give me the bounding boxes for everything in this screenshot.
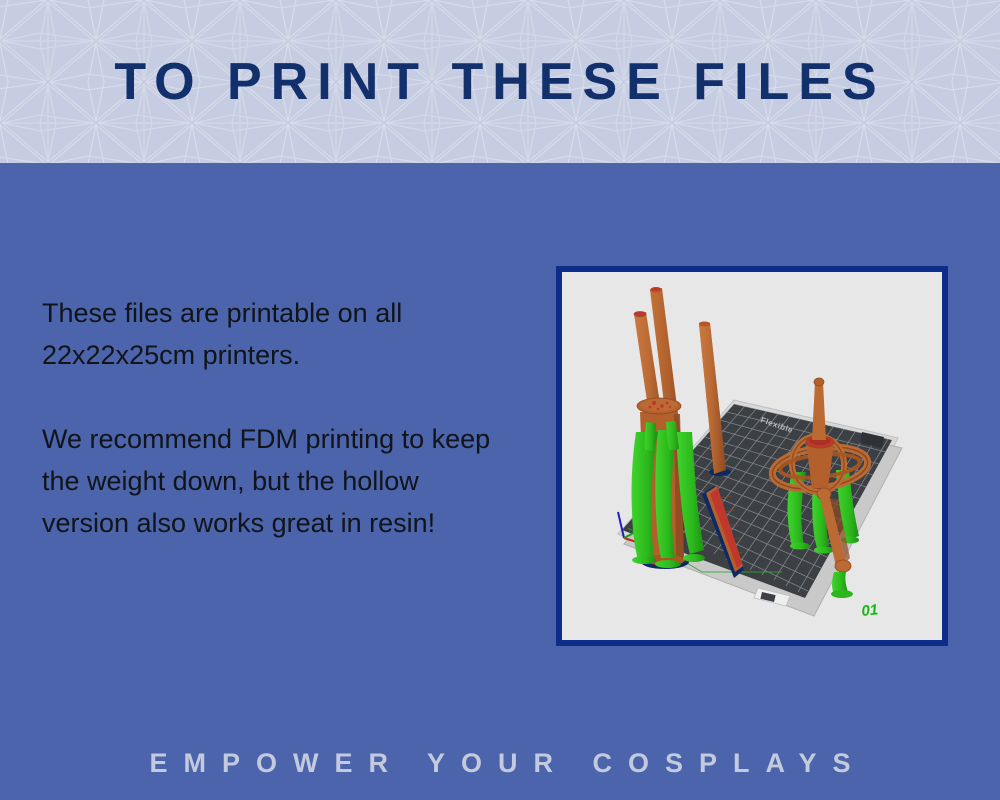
paragraph-spacer: [42, 376, 512, 418]
body-copy: These files are printable on all 22x22x2…: [42, 292, 512, 544]
print-preview-panel[interactable]: Flexible: [556, 266, 948, 646]
paragraph-recommendation: We recommend FDM printing to keep the we…: [42, 418, 512, 544]
page-title: TO PRINT THESE FILES: [0, 0, 1000, 163]
header-band: TO PRINT THESE FILES: [0, 0, 1000, 163]
slicer-scene: Flexible: [562, 272, 942, 640]
slide-canvas: TO PRINT THESE FILES These files are pri…: [0, 0, 1000, 800]
paragraph-printable: These files are printable on all 22x22x2…: [42, 292, 512, 376]
plate-number-label: 01: [861, 601, 879, 620]
slicer-viewport: Flexible: [562, 272, 942, 640]
footer-tagline: EMPOWER YOUR COSPLAYS: [0, 735, 1000, 791]
